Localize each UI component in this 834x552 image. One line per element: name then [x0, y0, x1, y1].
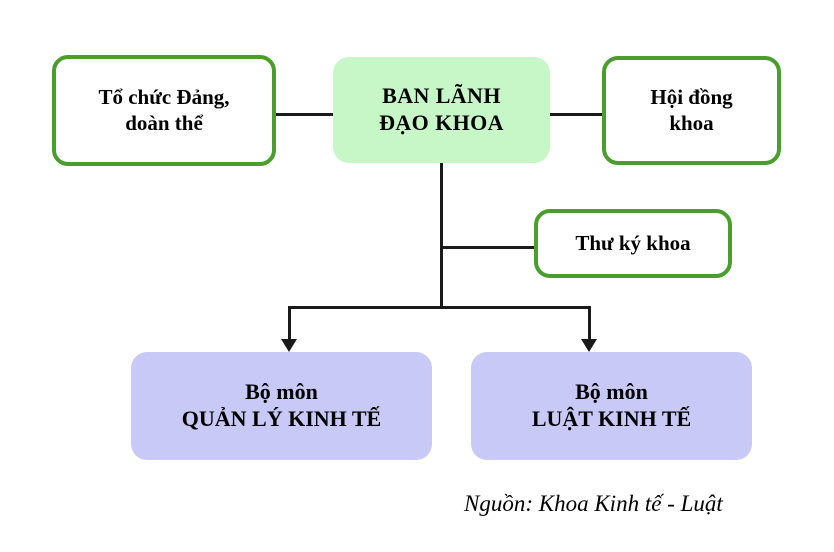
node-department-economic-management[interactable]: Bộ môn QUẢN LÝ KINH TẾ: [131, 352, 432, 460]
connector-board-trunk: [440, 162, 443, 309]
connector-board-to-council: [549, 113, 603, 116]
source-caption: Nguồn: Khoa Kinh tế - Luật: [464, 491, 723, 517]
node-faculty-council[interactable]: Hội đồng khoa: [602, 56, 781, 165]
node-faculty-secretary-label: Thư ký khoa: [575, 231, 690, 257]
node-department-economic-law[interactable]: Bộ môn LUẬT KINH TẾ: [471, 352, 752, 460]
node-party-organization-label: Tổ chức Đảng, doàn thể: [98, 85, 229, 136]
node-faculty-secretary[interactable]: Thư ký khoa: [534, 209, 732, 278]
org-chart-diagram: Tổ chức Đảng, doàn thể BAN LÃNH ĐẠO KHOA…: [0, 0, 834, 552]
node-department-economic-management-label: Bộ môn QUẢN LÝ KINH TẾ: [182, 379, 381, 433]
arrow-head-economic-law: [581, 339, 597, 352]
connector-drop-economic-law: [588, 306, 591, 342]
node-faculty-board[interactable]: BAN LÃNH ĐẠO KHOA: [333, 57, 550, 163]
connector-department-bus: [288, 306, 591, 309]
node-faculty-board-label: BAN LÃNH ĐẠO KHOA: [379, 83, 504, 137]
node-party-organization[interactable]: Tổ chức Đảng, doàn thể: [52, 55, 276, 166]
connector-trunk-to-secretary: [440, 246, 536, 249]
connector-party-org-to-board: [275, 113, 334, 116]
node-faculty-council-label: Hội đồng khoa: [650, 85, 732, 136]
node-department-economic-law-label: Bộ môn LUẬT KINH TẾ: [532, 379, 691, 433]
connector-drop-economic-management: [288, 306, 291, 342]
arrow-head-economic-management: [281, 339, 297, 352]
